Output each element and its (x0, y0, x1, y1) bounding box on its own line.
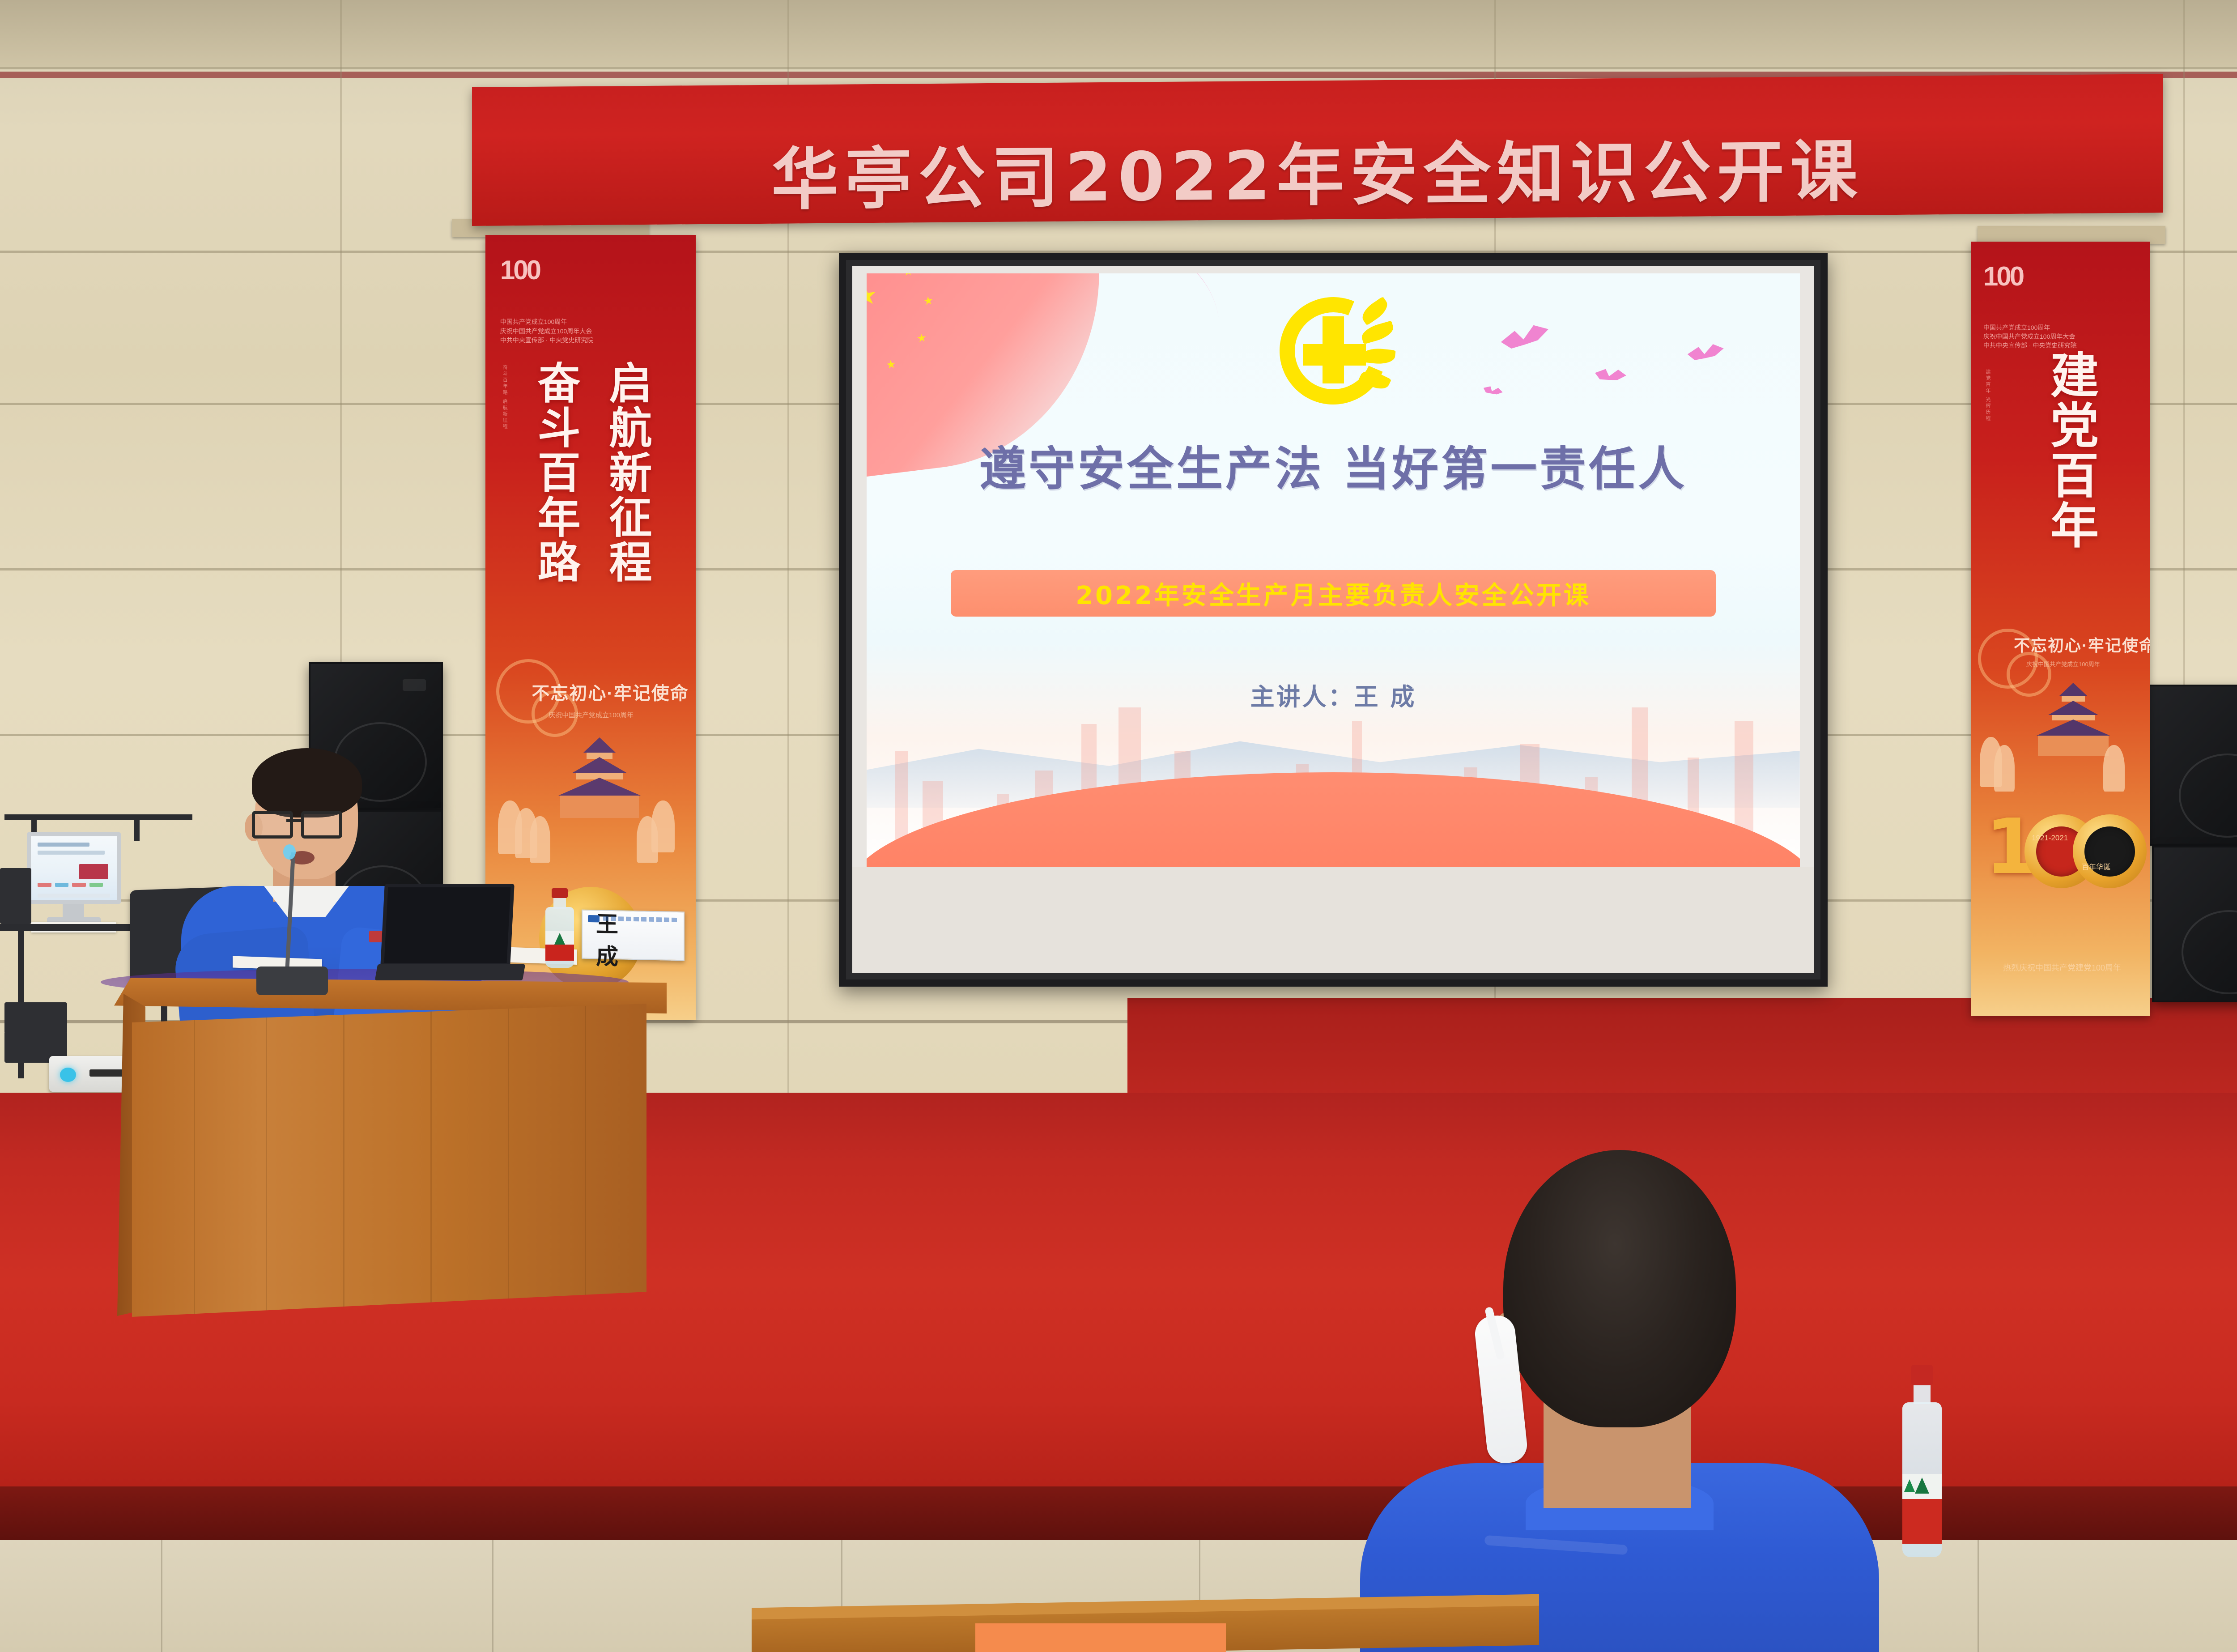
centenary-years-label: 1921-2021 (2032, 834, 2068, 843)
presenter-nameplate: 王 成 (582, 910, 685, 961)
event-title-text: 华亭公司2022年安全知识公开课 (771, 138, 1863, 224)
banner-vertical-print: 建党百年 光辉历程 (1984, 369, 1991, 422)
speaker-cone (2182, 910, 2237, 994)
banner-mount-rail (1978, 226, 2165, 244)
water-bottle-podium[interactable] (544, 888, 576, 968)
temple-roof (572, 757, 627, 773)
nameplate-name-text: 王 成 (583, 898, 684, 973)
control-monitor[interactable] (27, 832, 121, 904)
right-banner-slogan: 不忘初心·牢记使命 (2014, 633, 2150, 656)
wood-grain (585, 1004, 586, 1317)
banner-fine-print: 中国共产党成立100周年 庆祝中国共产党成立100周年大会 中共中央宣传部 · … (1983, 323, 2118, 350)
figures-ornament (2103, 745, 2125, 792)
centenary-coin-right (2073, 814, 2147, 888)
av-equipment-box (0, 868, 31, 924)
banner-fine-print: 中国共产党成立100周年 庆祝中国共产党成立100周年大会 中共中央宣传部 · … (500, 317, 658, 345)
desk-post (134, 814, 140, 841)
temple-of-heaven-icon (557, 737, 642, 818)
floor-tile-seam (161, 1540, 162, 1652)
ceiling-band (0, 0, 2237, 67)
projection-screen-surface: 遵守安全生产法 当好第一责任人 2022年安全生产月主要负责人安全公开课 主讲人… (852, 266, 1814, 973)
left-banner-headline-2: 启航新征程 (605, 361, 648, 628)
temple-of-heaven-icon (2035, 683, 2111, 757)
ui-row (38, 883, 51, 887)
microphone-head-icon (283, 844, 296, 860)
dove-icon (1687, 343, 1725, 367)
laptop-keyboard-base[interactable] (375, 964, 525, 980)
microphone-stem (285, 852, 295, 973)
slide-subtitle-text: 2022年安全生产月主要负责人安全公开课 (1076, 575, 1591, 612)
ui-row (38, 851, 105, 855)
dove-icon (1499, 322, 1552, 358)
speaker-cone (2179, 754, 2237, 838)
safety-cross-wreath-logo (1280, 297, 1387, 404)
loudspeaker-right-top (2148, 685, 2237, 846)
ui-row (89, 883, 103, 887)
podium-front-panel (132, 1004, 646, 1317)
temple-roof (2037, 720, 2110, 736)
monitor-screen (31, 836, 117, 900)
presentation-slide: 遵守安全生产法 当好第一责任人 2022年安全生产月主要负责人安全公开课 主讲人… (867, 273, 1800, 867)
nameplate-logo-icon (588, 915, 600, 923)
projection-screen-frame: 遵守安全生产法 当好第一责任人 2022年安全生产月主要负责人安全公开课 主讲人… (839, 253, 1828, 987)
bottle-neck (553, 897, 566, 909)
figures-ornament (1994, 745, 2015, 792)
centenary-badge-right: 100 (1983, 261, 2023, 292)
banner-vertical-print: 奋斗百年路 启航新征程 (501, 365, 508, 430)
eyeglasses-icon (301, 811, 342, 839)
right-party-banner: 100 中国共产党成立100周年 庆祝中国共产党成立100周年大会 中共中央宣传… (1971, 242, 2150, 1016)
bottle-cap (552, 888, 568, 898)
eyeglasses-icon (252, 811, 293, 839)
presenter-hair (252, 748, 362, 817)
wall-seam (0, 67, 2237, 69)
left-banner-headline-1: 奋斗百年路 (534, 361, 577, 628)
eyeglasses-bridge (286, 819, 302, 822)
figures-ornament (530, 816, 550, 863)
ui-thumb (79, 864, 108, 879)
audience-member (1333, 1150, 1915, 1652)
ui-row (55, 883, 69, 887)
wood-grain (508, 1004, 509, 1317)
speaker-tweeter (403, 679, 426, 691)
temple-roof (558, 778, 641, 796)
left-banner-slogan: 不忘初心·牢记使命 (532, 679, 689, 705)
left-banner-slogan-sub: 庆祝中国共产党成立100周年 (549, 710, 634, 720)
centenary-badge-left: 100 (500, 255, 540, 285)
right-banner-headline: 建党百年 (2046, 350, 2094, 644)
right-banner-footer: 热烈庆祝中国共产党建党100周年 (2003, 962, 2121, 973)
presenter-laptop[interactable] (383, 884, 517, 980)
temple-base (2038, 736, 2109, 756)
ui-row (38, 894, 110, 898)
laptop-screen[interactable] (380, 884, 515, 967)
floor-tile-seam (492, 1540, 493, 1652)
bottle-label-red (545, 945, 574, 961)
wood-grain (266, 1004, 267, 1317)
screen-blank-area (852, 867, 1814, 973)
right-banner-slogan-sub: 庆祝中国共产党成立100周年 (2026, 660, 2100, 668)
wood-grain (194, 1004, 195, 1317)
temple-roof (2048, 701, 2098, 715)
fabric-fold (1484, 1535, 1628, 1555)
av-equipment-box (4, 1002, 67, 1034)
water-bottle-audience[interactable] (1901, 1365, 1943, 1557)
bottle-cap (1911, 1365, 1933, 1385)
event-title-banner: 华亭公司2022年安全知识公开课 (472, 74, 2163, 226)
microphone-base (256, 967, 328, 995)
ui-row (38, 843, 89, 847)
bottle-neck (1914, 1384, 1931, 1404)
temple-base (560, 796, 639, 818)
figures-ornament (651, 800, 675, 852)
slide-subtitle-bar: 2022年安全生产月主要负责人安全公开课 (951, 570, 1716, 617)
dove-icon (1593, 366, 1627, 388)
temple-roof (583, 737, 616, 753)
ui-row (72, 883, 86, 887)
bottle-label-red (1902, 1499, 1942, 1544)
floor-tile-seam (1978, 1540, 1979, 1652)
audience-hair (1503, 1150, 1736, 1427)
projector-lens-icon (60, 1068, 76, 1082)
wooden-podium (114, 978, 667, 1318)
bench-seat-cushion (975, 1623, 1226, 1652)
dove-icon (1481, 383, 1503, 400)
loudspeaker-right-bottom (2152, 846, 2237, 1002)
podium-microphone[interactable] (284, 852, 296, 987)
wood-grain (343, 1004, 344, 1317)
conference-hall-scene: 安全通道 (0, 0, 2237, 1652)
slide-title: 遵守安全生产法 当好第一责任人 (867, 431, 1800, 498)
centenary-emblem-label: 百年华诞 (2082, 861, 2110, 872)
wood-grain (430, 1004, 432, 1317)
cross-icon (1303, 344, 1366, 366)
temple-roof (2059, 683, 2088, 696)
monitor-stand (63, 904, 84, 919)
